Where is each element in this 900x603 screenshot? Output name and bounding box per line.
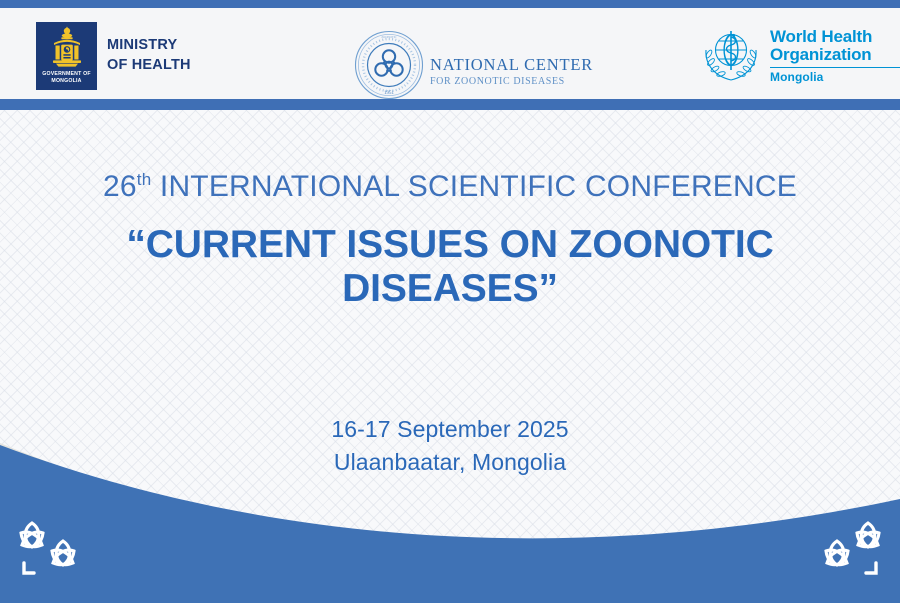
conference-topic-line1: “CURRENT ISSUES ON ZOONOTIC bbox=[0, 223, 900, 267]
national-center-name-line2: FOR ZOONOTIC DISEASES bbox=[430, 76, 593, 88]
seal-year: 1951 bbox=[384, 91, 395, 96]
ulzii-knot-icon bbox=[804, 517, 886, 579]
soyombo-glyph-icon bbox=[50, 26, 84, 70]
biohazard-seal-icon: ZOONOTIC 1951 bbox=[352, 28, 426, 102]
who-name-line1: World Health bbox=[770, 28, 900, 46]
national-center-logo: ZOONOTIC 1951 NATIONAL CENTER F bbox=[352, 28, 593, 102]
who-country-label: Mongolia bbox=[770, 70, 900, 84]
event-date: 16-17 September 2025 bbox=[0, 413, 900, 446]
ulzii-knot-icon bbox=[14, 517, 96, 579]
conference-topic: “CURRENT ISSUES ON ZOONOTIC DISEASES” bbox=[0, 223, 900, 311]
mongolia-label: MONGOLIA bbox=[36, 79, 97, 84]
title-block: 26th INTERNATIONAL SCIENTIFIC CONFERENCE… bbox=[0, 172, 900, 311]
who-divider bbox=[770, 67, 900, 69]
top-accent-rule bbox=[0, 0, 900, 8]
header-accent-rule bbox=[0, 99, 900, 110]
conference-heading: 26th INTERNATIONAL SCIENTIFIC CONFERENCE bbox=[0, 172, 900, 202]
conference-heading-text: INTERNATIONAL SCIENTIFIC CONFERENCE bbox=[151, 170, 797, 203]
national-center-name: NATIONAL CENTER FOR ZOONOTIC DISEASES bbox=[430, 56, 593, 88]
who-name-line2: Organization bbox=[770, 46, 900, 64]
ministry-name-line2: OF HEALTH bbox=[107, 56, 191, 76]
who-emblem-icon bbox=[700, 26, 762, 86]
government-label: GOVERNMENT OF bbox=[36, 72, 97, 77]
logo-header-band: GOVERNMENT OF MONGOLIA MINISTRY OF HEALT… bbox=[0, 8, 900, 99]
conference-ordinal-suffix: th bbox=[137, 170, 152, 189]
who-name-block: World Health Organization Mongolia bbox=[770, 26, 900, 84]
ministry-name: MINISTRY OF HEALTH bbox=[107, 36, 191, 75]
national-center-name-line1: NATIONAL CENTER bbox=[430, 56, 593, 74]
conference-number: 26 bbox=[103, 170, 137, 203]
conference-title-slide: GOVERNMENT OF MONGOLIA MINISTRY OF HEALT… bbox=[0, 0, 900, 603]
who-logo: World Health Organization Mongolia bbox=[700, 26, 900, 86]
ministry-name-line1: MINISTRY bbox=[107, 36, 191, 56]
bottom-wave-shape bbox=[0, 443, 900, 603]
ministry-of-health-logo: GOVERNMENT OF MONGOLIA MINISTRY OF HEALT… bbox=[36, 22, 191, 90]
soyombo-emblem-icon: GOVERNMENT OF MONGOLIA bbox=[36, 22, 97, 90]
conference-topic-line2: DISEASES” bbox=[0, 267, 900, 311]
